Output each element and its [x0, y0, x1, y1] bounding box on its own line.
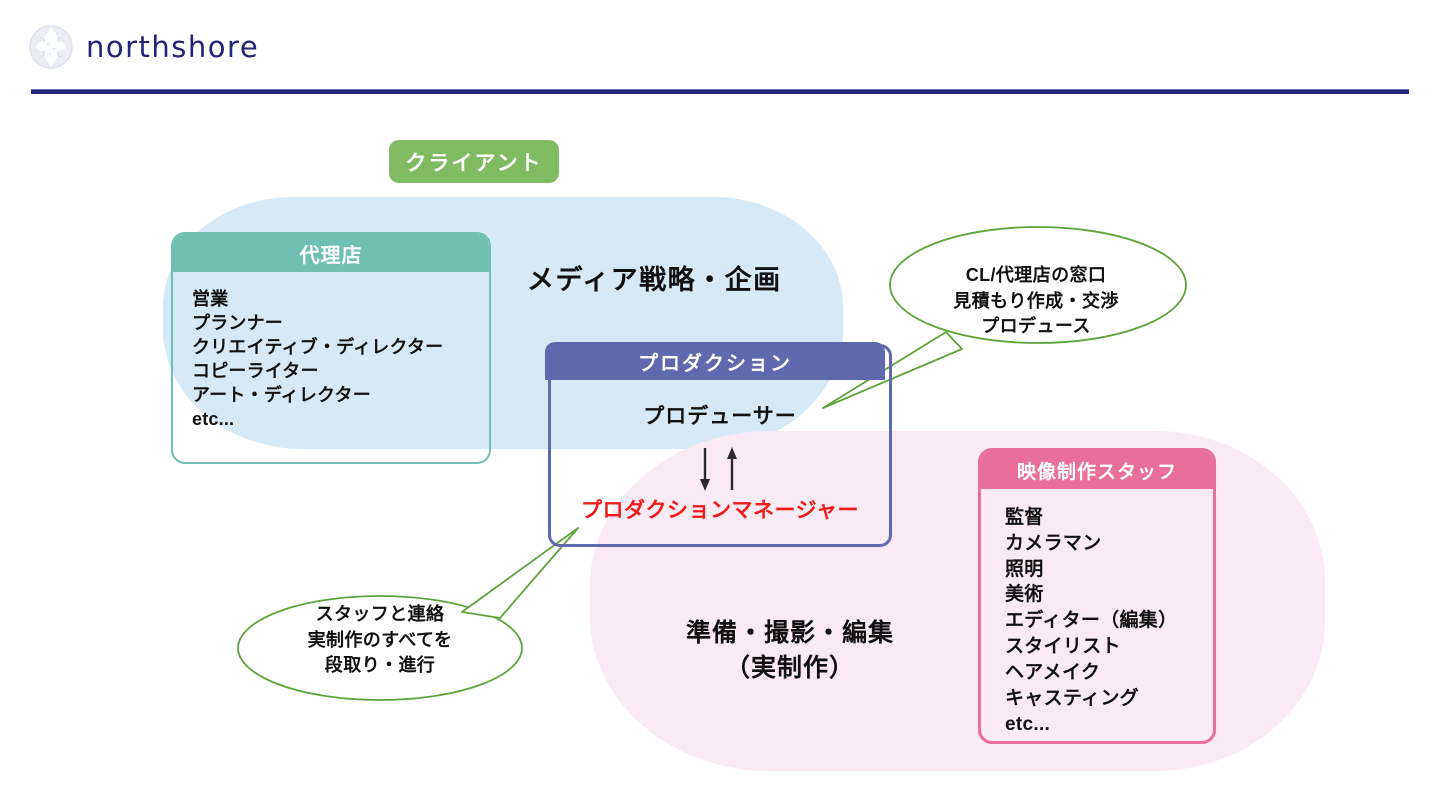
callout-line1: CL/代理店の窓口 — [880, 263, 1192, 289]
production-box-title: プロダクション — [638, 347, 792, 376]
video-staff-role-list: 監督 カメラマン 照明 美術 エディター（編集） スタイリスト ヘアメイク キャ… — [981, 489, 1213, 737]
callout-line2: 実制作のすべてを — [236, 628, 524, 654]
list-item: クリエイティブ・ディレクター — [192, 336, 489, 360]
production-manager-label: プロダクションマネージャー — [548, 494, 892, 524]
production-phase-line1: 準備・撮影・編集 — [640, 616, 940, 651]
list-item: etc... — [192, 408, 489, 432]
production-phase-label: 準備・撮影・編集 （実制作） — [640, 616, 940, 685]
client-badge: クライアント — [389, 140, 559, 183]
production-phase-line2: （実制作） — [640, 651, 940, 686]
list-item: 照明 — [1005, 557, 1213, 583]
manager-duties-callout: スタッフと連絡 実制作のすべてを 段取り・進行 — [236, 522, 596, 697]
video-staff-card: 映像制作スタッフ 監督 カメラマン 照明 美術 エディター（編集） スタイリスト… — [978, 448, 1216, 744]
callout-line3: 段取り・進行 — [236, 653, 524, 679]
producer-duties-callout-text: CL/代理店の窓口 見積もり作成・交渉 プロデュース — [880, 263, 1192, 340]
callout-line2: 見積もり作成・交渉 — [880, 289, 1192, 315]
producer-duties-callout: CL/代理店の窓口 見積もり作成・交渉 プロデュース — [880, 222, 1200, 422]
list-item: コピーライター — [192, 360, 489, 384]
list-item: 監督 — [1005, 505, 1213, 531]
list-item: ヘアメイク — [1005, 660, 1213, 686]
agency-role-list: 営業 プランナー クリエイティブ・ディレクター コピーライター アート・ディレク… — [173, 272, 489, 432]
agency-card-title: 代理店 — [300, 239, 363, 268]
list-item: キャスティング — [1005, 686, 1213, 712]
list-item: etc... — [1005, 712, 1213, 738]
client-badge-label: クライアント — [405, 147, 542, 177]
production-box-header: プロダクション — [545, 342, 885, 380]
list-item: エディター（編集） — [1005, 608, 1213, 634]
callout-line1: スタッフと連絡 — [236, 602, 524, 628]
diagram-stage: クライアント 代理店 営業 プランナー クリエイティブ・ディレクター コピーライ… — [0, 0, 1440, 810]
list-item: 美術 — [1005, 582, 1213, 608]
agency-card-header: 代理店 — [173, 234, 489, 272]
list-item: 営業 — [192, 288, 489, 312]
video-staff-card-header: 映像制作スタッフ — [981, 451, 1213, 489]
agency-card: 代理店 営業 プランナー クリエイティブ・ディレクター コピーライター アート・… — [171, 232, 491, 464]
list-item: スタイリスト — [1005, 634, 1213, 660]
up-down-arrows-icon — [690, 445, 750, 493]
manager-duties-callout-text: スタッフと連絡 実制作のすべてを 段取り・進行 — [236, 602, 524, 679]
list-item: カメラマン — [1005, 531, 1213, 557]
list-item: プランナー — [192, 312, 489, 336]
video-staff-card-title: 映像制作スタッフ — [1017, 457, 1177, 484]
media-strategy-label: メディア戦略・企画 — [527, 258, 782, 297]
callout-line3: プロデュース — [880, 314, 1192, 340]
producer-label: プロデューサー — [548, 400, 892, 430]
list-item: アート・ディレクター — [192, 384, 489, 408]
